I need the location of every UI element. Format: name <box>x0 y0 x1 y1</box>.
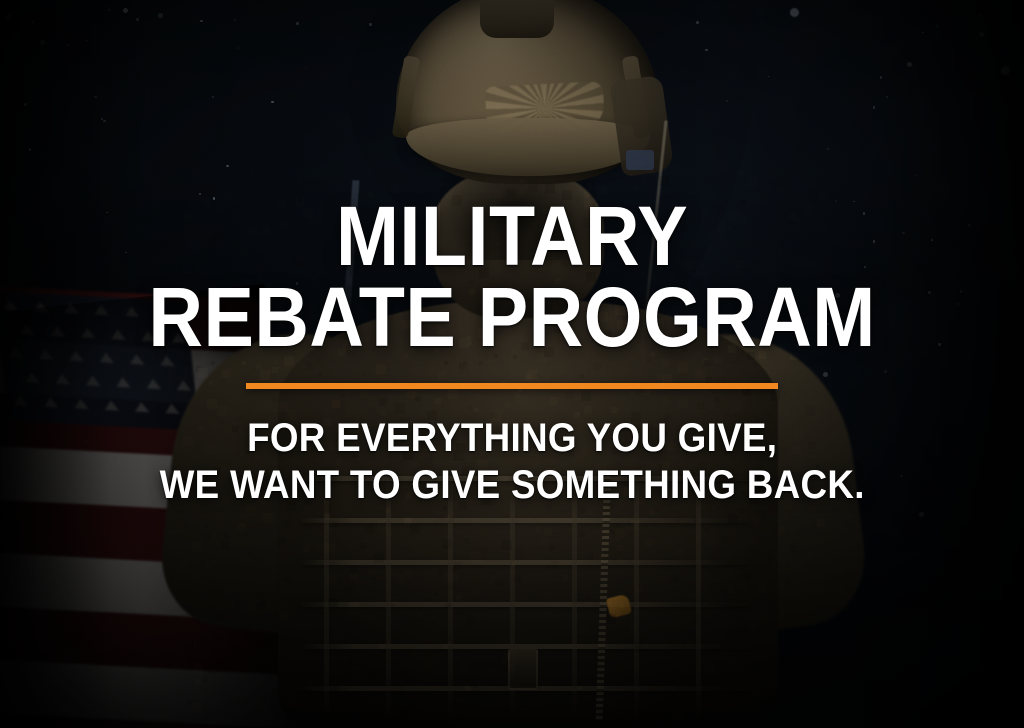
headline-line-1: MILITARY <box>148 196 875 277</box>
subheadline-line-1: FOR EVERYTHING YOU GIVE, <box>159 415 864 462</box>
subheadline-line-2: WE WANT TO GIVE SOMETHING BACK. <box>159 462 864 509</box>
headline-line-2: REBATE PROGRAM <box>148 277 875 358</box>
military-rebate-banner: MILITARY REBATE PROGRAM FOR EVERYTHING Y… <box>0 0 1024 728</box>
banner-subheadline: FOR EVERYTHING YOU GIVE, WE WANT TO GIVE… <box>159 415 864 509</box>
banner-headline: MILITARY REBATE PROGRAM <box>148 196 875 357</box>
orange-divider <box>246 383 778 389</box>
banner-text-overlay: MILITARY REBATE PROGRAM FOR EVERYTHING Y… <box>0 0 1024 728</box>
